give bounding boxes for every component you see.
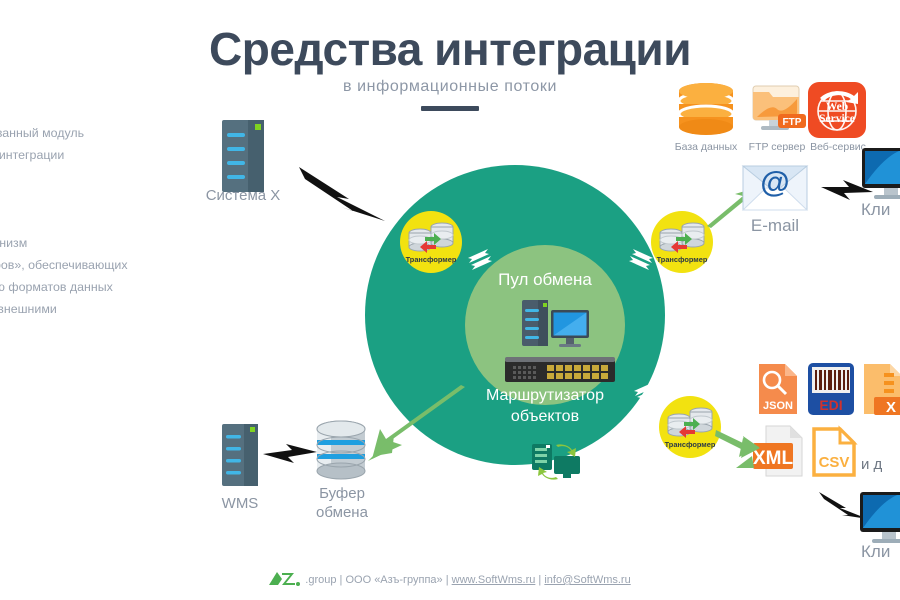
transformer-label: Трансформер — [659, 440, 721, 449]
left-description: …ализированный модуль …печения интеграци… — [0, 122, 166, 342]
email-label: E-mail — [735, 216, 815, 235]
csv-file-icon: CSV — [812, 428, 856, 476]
edi-barcode-icon: EDI — [808, 363, 854, 415]
lightning-bolt-icon — [297, 163, 389, 225]
system-x-label: Система X — [183, 186, 303, 205]
exchange-server-label: Сервер обмена — [470, 478, 650, 495]
wms-server-icon — [222, 424, 258, 486]
router-label: Маршрутизатор объектов — [455, 385, 635, 427]
az-group-logo-icon — [269, 572, 303, 586]
svg-text:FTP: FTP — [783, 117, 802, 128]
exchange-server-icon — [530, 443, 584, 481]
json-file-icon: JSON — [757, 363, 799, 415]
left-text-line: …у wms и внешними — [0, 298, 166, 320]
router-label-line1: Маршрутизатор — [455, 385, 635, 406]
client-label-top: Кли — [861, 200, 900, 219]
buffer-label: Буфер обмена — [296, 484, 388, 522]
buffer-label-line2: обмена — [296, 503, 388, 522]
database-caption: База данных — [663, 141, 749, 153]
svg-text:@: @ — [760, 166, 789, 199]
web-service-badge-line1: Web — [826, 101, 848, 113]
transformer-label: Трансформер — [400, 255, 462, 264]
web-service-icon: Web Service — [808, 82, 866, 138]
ftp-server-icon: FTP — [745, 84, 807, 140]
left-text-line: …мами. — [0, 320, 166, 342]
network-switch-icon — [505, 355, 615, 385]
transformer-node-3[interactable]: Трансформер — [659, 396, 721, 458]
footer-sep: | — [443, 574, 452, 586]
xls-label: X — [886, 399, 896, 416]
footer-company: ООО «Азъ-группа» — [345, 574, 442, 586]
email-icon: @ — [742, 162, 808, 212]
wms-label: WMS — [200, 494, 280, 513]
router-label-line2: объектов — [455, 406, 635, 427]
client-monitor-icon-top — [862, 148, 900, 206]
green-arrow-to-buffer — [360, 385, 470, 465]
left-text-line: …сформеров», обеспечивающих — [0, 254, 166, 276]
left-text-line: …той механизм — [0, 232, 166, 254]
left-text-line: …онизацию форматов данных — [0, 276, 166, 298]
green-arrow-small — [736, 452, 756, 472]
slide-canvas: Средства интеграции в информационные пот… — [0, 0, 900, 600]
csv-label: CSV — [819, 454, 850, 471]
footer-email-link[interactable]: info@SoftWms.ru — [544, 574, 630, 586]
footer: .group | ООО «Азъ-группа» | www.SoftWms.… — [0, 572, 900, 586]
left-text-line: …ализированный модуль — [0, 122, 166, 144]
etc-label: и д — [861, 455, 900, 474]
title-divider — [421, 106, 479, 111]
json-label: JSON — [763, 400, 793, 412]
system-x-server-icon — [222, 120, 264, 192]
web-service-badge-line2: Service — [819, 113, 855, 125]
bidirectional-arrow-right-bottom — [628, 380, 664, 410]
footer-logo-text: .group — [305, 574, 336, 586]
transformer-node-1[interactable]: Трансформер — [400, 211, 462, 273]
transformer-node-2[interactable]: Трансформер — [651, 211, 713, 273]
buffer-label-line1: Буфер — [296, 484, 388, 503]
client-label-bottom: Кли — [861, 542, 900, 561]
lightning-bolt-icon — [262, 440, 318, 470]
server-monitor-icon — [521, 300, 591, 352]
transformer-label: Трансформер — [651, 255, 713, 264]
footer-site-link[interactable]: www.SoftWms.ru — [452, 574, 536, 586]
bidirectional-arrow-left — [462, 246, 498, 276]
xls-file-icon: X — [862, 363, 900, 415]
page-title: Средства интеграции — [0, 22, 900, 76]
bidirectional-arrow-right-top — [623, 246, 659, 276]
edi-label: EDI — [819, 397, 842, 413]
database-icon — [678, 82, 734, 140]
left-text-line: …печения интеграции — [0, 144, 166, 166]
footer-sep: | — [535, 574, 544, 586]
